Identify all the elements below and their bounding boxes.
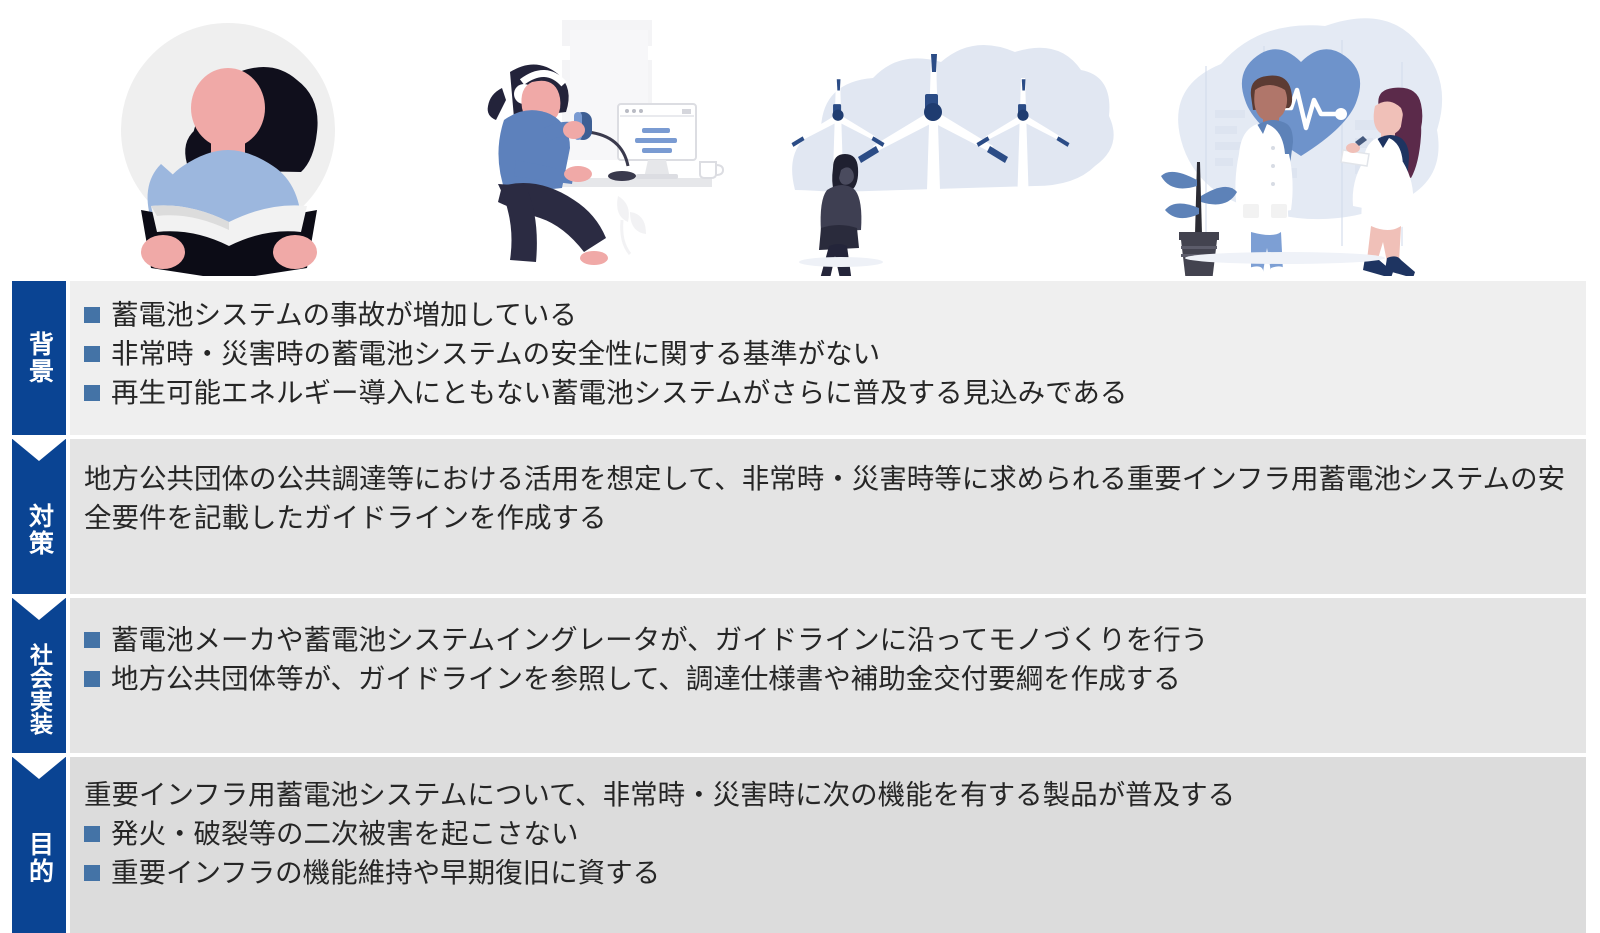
list-item: 非常時・災害時の蓄電池システムの安全性に関する基準がない xyxy=(84,334,1576,373)
paragraph-text: 地方公共団体の公共調達等における活用を想定して、非常時・災害時等に求められる重要… xyxy=(84,459,1576,537)
section-haikei: 蓄電池システムの事故が増加している 非常時・災害時の蓄電池システムの安全性に関す… xyxy=(0,281,1600,435)
list-item-text: 蓄電池システムの事故が増加している xyxy=(111,295,1576,334)
content-taisaku: 地方公共団体の公共調達等における活用を想定して、非常時・災害時等に求められる重要… xyxy=(84,459,1576,537)
bullet-square-icon xyxy=(84,385,100,401)
list-item: 重要インフラの機能維持や早期復旧に資する xyxy=(84,853,1576,892)
list-item-text: 非常時・災害時の蓄電池システムの安全性に関する基準がない xyxy=(111,334,1576,373)
content-shakai: 蓄電池メーカや蓄電池システムイングレータが、ガイドラインに沿ってモノづくりを行う… xyxy=(84,620,1576,698)
bullet-square-icon xyxy=(84,671,100,687)
content-haikei: 蓄電池システムの事故が増加している 非常時・災害時の蓄電池システムの安全性に関す… xyxy=(84,295,1576,412)
bullet-square-icon xyxy=(84,826,100,842)
doctors-with-heart-monitor-illustration xyxy=(1145,0,1465,276)
woman-at-desk-with-monitor-illustration xyxy=(470,0,740,276)
list-item-text: 地方公共団体等が、ガイドラインを参照して、調達仕様書や補助金交付要綱を作成する xyxy=(111,659,1576,698)
chevron-down-icon xyxy=(12,757,66,783)
list-item-text: 発火・破裂等の二次被害を起こさない xyxy=(111,814,1576,853)
section-mokuteki: 重要インフラ用蓄電池システムについて、非常時・災害時に次の機能を有する製品が普及… xyxy=(0,757,1600,933)
illustration-band xyxy=(0,0,1600,276)
list-item: 蓄電池システムの事故が増加している xyxy=(84,295,1576,334)
list-item-text: 再生可能エネルギー導入にともない蓄電池システムがさらに普及する見込みである xyxy=(111,373,1576,412)
list-item: 地方公共団体等が、ガイドラインを参照して、調達仕様書や補助金交付要綱を作成する xyxy=(84,659,1576,698)
chevron-down-icon xyxy=(12,439,66,465)
stage-bar-haikei xyxy=(12,281,66,435)
woman-reading-book-illustration xyxy=(85,0,375,276)
section-shakai: 蓄電池メーカや蓄電池システムイングレータが、ガイドラインに沿ってモノづくりを行う… xyxy=(0,598,1600,753)
panel-mokuteki: 重要インフラ用蓄電池システムについて、非常時・災害時に次の機能を有する製品が普及… xyxy=(70,757,1586,933)
list-item: 蓄電池メーカや蓄電池システムイングレータが、ガイドラインに沿ってモノづくりを行う xyxy=(84,620,1576,659)
process-flow: 蓄電池システムの事故が増加している 非常時・災害時の蓄電池システムの安全性に関す… xyxy=(0,281,1600,933)
bullet-square-icon xyxy=(84,632,100,648)
list-item-text: 蓄電池メーカや蓄電池システムイングレータが、ガイドラインに沿ってモノづくりを行う xyxy=(111,620,1576,659)
chevron-down-icon xyxy=(12,598,66,624)
section-taisaku: 地方公共団体の公共調達等における活用を想定して、非常時・災害時等に求められる重要… xyxy=(0,439,1600,594)
wind-turbines-illustration xyxy=(765,0,1115,276)
content-mokuteki: 重要インフラ用蓄電池システムについて、非常時・災害時に次の機能を有する製品が普及… xyxy=(84,775,1576,892)
panel-shakai: 蓄電池メーカや蓄電池システムイングレータが、ガイドラインに沿ってモノづくりを行う… xyxy=(70,598,1586,753)
bullet-square-icon xyxy=(84,346,100,362)
bullet-square-icon xyxy=(84,865,100,881)
list-item: 発火・破裂等の二次被害を起こさない xyxy=(84,814,1576,853)
list-item-text: 重要インフラの機能維持や早期復旧に資する xyxy=(111,853,1576,892)
stage-bar-mokuteki xyxy=(12,757,66,933)
paragraph-text: 重要インフラ用蓄電池システムについて、非常時・災害時に次の機能を有する製品が普及… xyxy=(84,775,1576,814)
panel-haikei: 蓄電池システムの事故が増加している 非常時・災害時の蓄電池システムの安全性に関す… xyxy=(70,281,1586,435)
bullet-square-icon xyxy=(84,307,100,323)
panel-taisaku: 地方公共団体の公共調達等における活用を想定して、非常時・災害時等に求められる重要… xyxy=(70,439,1586,594)
list-item: 再生可能エネルギー導入にともない蓄電池システムがさらに普及する見込みである xyxy=(84,373,1576,412)
